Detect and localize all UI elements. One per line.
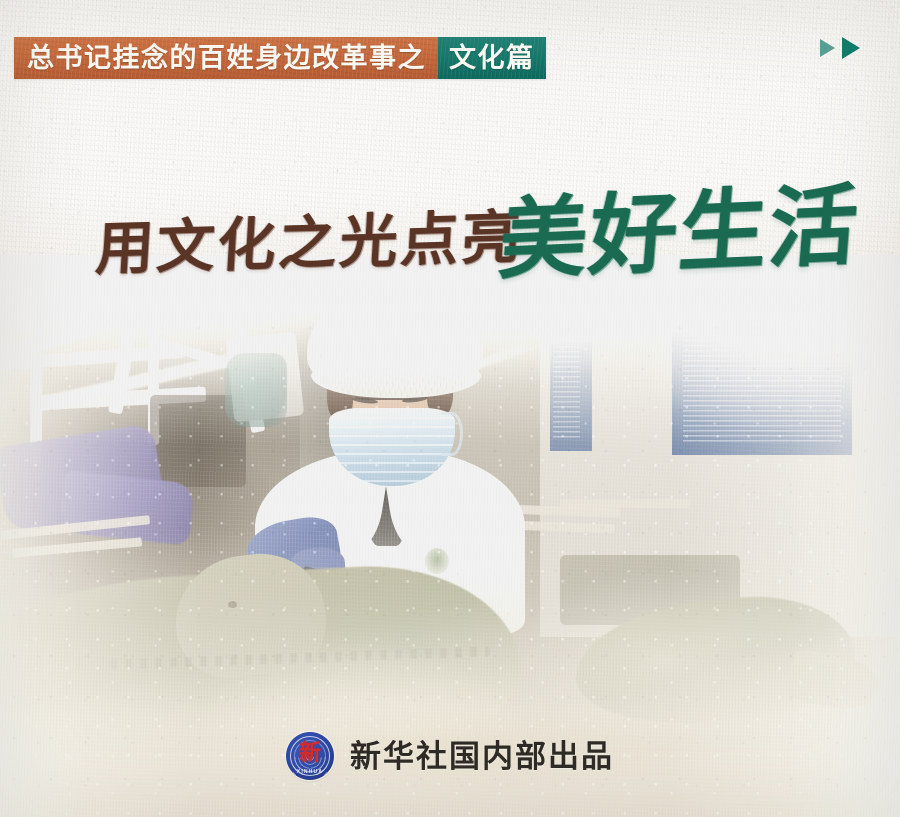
- exhibit-info-panel: [672, 260, 852, 455]
- arrow-right-large-icon: [842, 37, 860, 59]
- banner-chapter-label: 文化篇: [438, 37, 546, 79]
- exhibit-info-panel-narrow: [550, 279, 592, 451]
- publisher-credit-text: 新华社国内部出品: [350, 741, 614, 772]
- header-banner: 总书记挂念的百姓身边改革事之 文化篇: [14, 37, 546, 79]
- logo-wordmark: XINHUA: [286, 769, 334, 775]
- exhibit-panel-text-lines: [683, 330, 841, 443]
- coat-badge: [425, 548, 449, 574]
- xinhua-logo-icon: 新 XINHUA: [286, 732, 334, 780]
- footer-credit: 新 XINHUA 新华社国内部出品: [0, 730, 900, 782]
- mask-ear-strap: [441, 412, 463, 456]
- hairnet-texture: [307, 288, 483, 396]
- banner-series-label: 总书记挂念的百姓身边改革事之: [14, 37, 438, 79]
- workbench-rail: [560, 499, 690, 508]
- banner-series-text: 总书记挂念的百姓身边改革事之: [27, 45, 426, 72]
- banner-chapter-text: 文化篇: [449, 45, 535, 72]
- exhibit-panel-text-lines: [553, 341, 581, 441]
- bronze-artifact-eye: [228, 601, 237, 608]
- bronze-patina: [330, 605, 490, 665]
- decorative-arrows: [820, 37, 860, 59]
- arrow-right-small-icon: [820, 39, 835, 57]
- poster-canvas: 总书记挂念的百姓身边改革事之 文化篇 用文化之光点亮 美好生活 新 XINHUA…: [0, 0, 900, 817]
- logo-character: 新: [299, 742, 321, 764]
